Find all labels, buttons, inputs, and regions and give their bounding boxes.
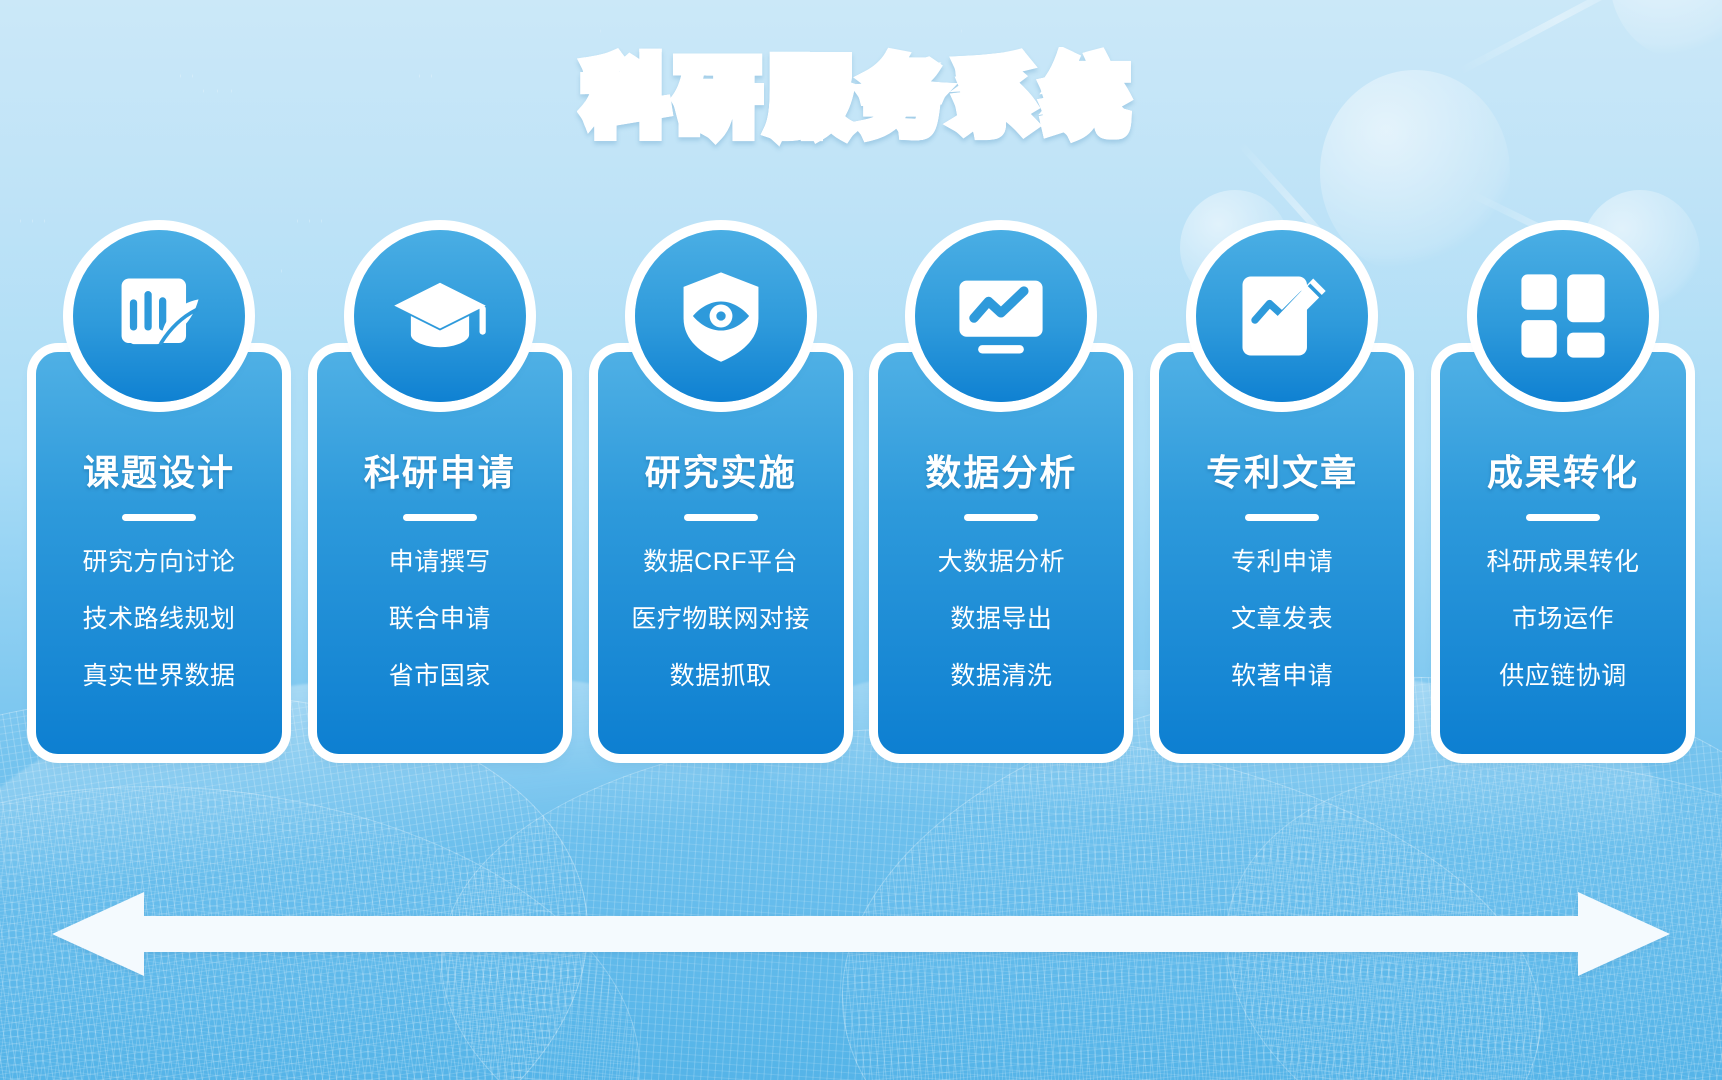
card-row: 课题设计 研究方向讨论 技术路线规划 真实世界数据 科研申请 [36, 352, 1686, 754]
card-2[interactable]: 科研申请 申请撰写 联合申请 省市国家 [317, 352, 563, 754]
list-item: 软著申请 [1159, 661, 1405, 691]
list-item: 研究方向讨论 [36, 547, 282, 577]
card-column-1[interactable]: 课题设计 研究方向讨论 技术路线规划 真实世界数据 [36, 352, 282, 754]
list-item: 文章发表 [1159, 604, 1405, 634]
card-4[interactable]: 数据分析 大数据分析 数据导出 数据清洗 [878, 352, 1124, 754]
card-3[interactable]: 研究实施 数据CRF平台 医疗物联网对接 数据抓取 [598, 352, 844, 754]
infographic-poster: 科研服务系统 课题设计 研究方向讨论 [0, 0, 1722, 1080]
grid-blocks-icon [1477, 230, 1649, 402]
page-title-wrapper: 科研服务系统 [0, 52, 1722, 146]
list-item: 大数据分析 [878, 547, 1124, 577]
card-divider [122, 514, 196, 521]
monitor-line-chart-icon [915, 230, 1087, 402]
page-title: 科研服务系统 [585, 52, 1137, 146]
list-item: 供应链协调 [1440, 661, 1686, 691]
card-divider [1526, 514, 1600, 521]
card-title: 课题设计 [83, 444, 235, 496]
card-items: 研究方向讨论 技术路线规划 真实世界数据 [36, 547, 282, 718]
card-title: 成果转化 [1487, 444, 1639, 496]
list-item: 数据导出 [878, 604, 1124, 634]
card-1[interactable]: 课题设计 研究方向讨论 技术路线规划 真实世界数据 [36, 352, 282, 754]
list-item: 申请撰写 [317, 547, 563, 577]
card-column-3[interactable]: 研究实施 数据CRF平台 医疗物联网对接 数据抓取 [598, 352, 844, 754]
card-column-2[interactable]: 科研申请 申请撰写 联合申请 省市国家 [317, 352, 563, 754]
card-column-5[interactable]: 专利文章 专利申请 文章发表 软著申请 [1159, 352, 1405, 754]
card-items: 数据CRF平台 医疗物联网对接 数据抓取 [598, 547, 844, 718]
list-item: 数据CRF平台 [598, 547, 844, 577]
card-column-6[interactable]: 成果转化 科研成果转化 市场运作 供应链协调 [1440, 352, 1686, 754]
card-items: 专利申请 文章发表 软著申请 [1159, 547, 1405, 718]
card-title: 科研申请 [364, 444, 516, 496]
card-divider [964, 514, 1038, 521]
card-items: 申请撰写 联合申请 省市国家 [317, 547, 563, 718]
list-item: 技术路线规划 [36, 604, 282, 634]
list-item: 市场运作 [1440, 604, 1686, 634]
card-5[interactable]: 专利文章 专利申请 文章发表 软著申请 [1159, 352, 1405, 754]
card-title: 研究实施 [645, 444, 797, 496]
list-item: 省市国家 [317, 661, 563, 691]
card-items: 科研成果转化 市场运作 供应链协调 [1440, 547, 1686, 718]
card-divider [684, 514, 758, 521]
card-divider [1245, 514, 1319, 521]
list-item: 联合申请 [317, 604, 563, 634]
document-pen-edit-icon [1196, 230, 1368, 402]
card-column-4[interactable]: 数据分析 大数据分析 数据导出 数据清洗 [878, 352, 1124, 754]
double-headed-horizontal-arrow [52, 888, 1670, 980]
list-item: 数据抓取 [598, 661, 844, 691]
list-item: 真实世界数据 [36, 661, 282, 691]
card-title: 专利文章 [1206, 444, 1358, 496]
graduation-cap-icon [354, 230, 526, 402]
card-6[interactable]: 成果转化 科研成果转化 市场运作 供应链协调 [1440, 352, 1686, 754]
shield-eye-icon [635, 230, 807, 402]
list-item: 数据清洗 [878, 661, 1124, 691]
list-item: 专利申请 [1159, 547, 1405, 577]
card-divider [403, 514, 477, 521]
list-item: 科研成果转化 [1440, 547, 1686, 577]
card-items: 大数据分析 数据导出 数据清洗 [878, 547, 1124, 718]
document-bar-chart-leaf-icon [73, 230, 245, 402]
list-item: 医疗物联网对接 [598, 604, 844, 634]
card-title: 数据分析 [925, 444, 1077, 496]
